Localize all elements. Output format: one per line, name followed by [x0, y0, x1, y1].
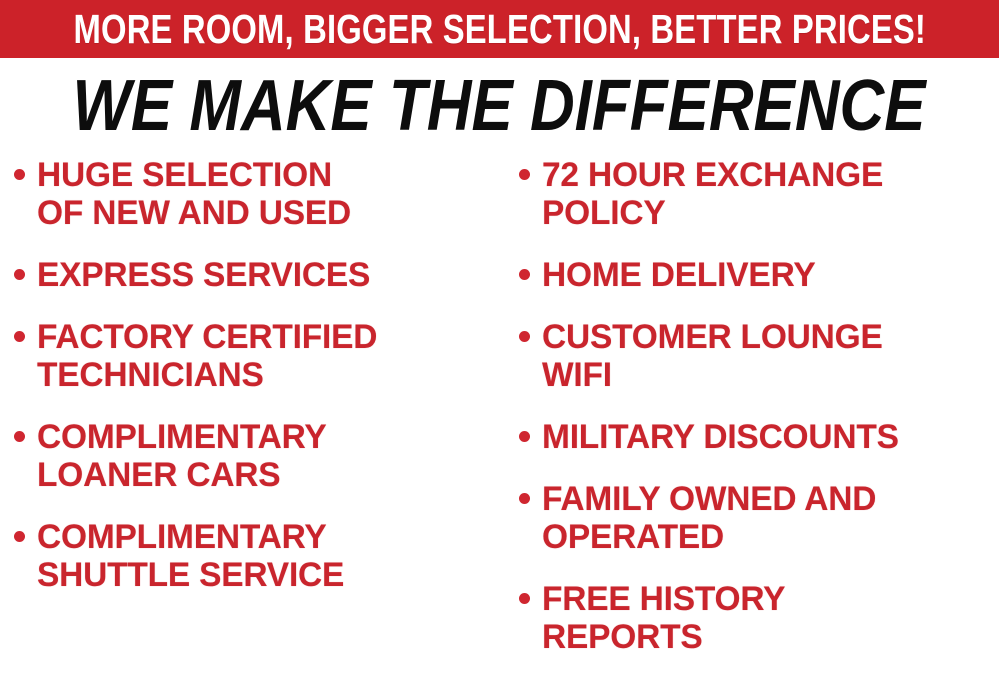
benefits-column-right: 72 HOUR EXCHANGE POLICY HOME DELIVERY CU… [505, 156, 999, 656]
bullet-dot-icon [519, 593, 530, 604]
list-item: COMPLIMENTARY SHUTTLE SERVICE [14, 518, 503, 594]
benefits-column-left: HUGE SELECTION OF NEW AND USED EXPRESS S… [0, 156, 505, 594]
list-item: FAMILY OWNED AND OPERATED [519, 480, 999, 556]
bullet-dot-icon [14, 531, 25, 542]
list-item-label: COMPLIMENTARY SHUTTLE SERVICE [37, 518, 344, 594]
list-item: 72 HOUR EXCHANGE POLICY [519, 156, 999, 232]
list-item: FREE HISTORY REPORTS [519, 580, 999, 656]
list-item-label: FREE HISTORY REPORTS [542, 580, 785, 656]
bullet-dot-icon [519, 493, 530, 504]
list-item-label: 72 HOUR EXCHANGE POLICY [542, 156, 883, 232]
bullet-dot-icon [14, 431, 25, 442]
list-item: HUGE SELECTION OF NEW AND USED [14, 156, 503, 232]
list-item: CUSTOMER LOUNGE WIFI [519, 318, 999, 394]
list-item-label: CUSTOMER LOUNGE WIFI [542, 318, 883, 394]
list-item: EXPRESS SERVICES [14, 256, 503, 294]
list-item-label: COMPLIMENTARY LOANER CARS [37, 418, 327, 494]
dealership-promo-banner: MORE ROOM, BIGGER SELECTION, BETTER PRIC… [0, 0, 999, 692]
bullet-dot-icon [14, 331, 25, 342]
benefits-columns: HUGE SELECTION OF NEW AND USED EXPRESS S… [0, 156, 999, 692]
bullet-dot-icon [519, 331, 530, 342]
list-item-label: MILITARY DISCOUNTS [542, 418, 899, 456]
headline-container: WE MAKE THE DIFFERENCE [0, 58, 999, 154]
bullet-dot-icon [519, 269, 530, 280]
bullet-dot-icon [14, 169, 25, 180]
list-item-label: EXPRESS SERVICES [37, 256, 370, 294]
page-title: WE MAKE THE DIFFERENCE [73, 70, 926, 142]
list-item-label: FAMILY OWNED AND OPERATED [542, 480, 876, 556]
list-item-label: HUGE SELECTION OF NEW AND USED [37, 156, 351, 232]
list-item: MILITARY DISCOUNTS [519, 418, 999, 456]
bullet-dot-icon [519, 169, 530, 180]
bullet-dot-icon [14, 269, 25, 280]
bullet-dot-icon [519, 431, 530, 442]
list-item: FACTORY CERTIFIED TECHNICIANS [14, 318, 503, 394]
list-item: HOME DELIVERY [519, 256, 999, 294]
list-item-label: FACTORY CERTIFIED TECHNICIANS [37, 318, 377, 394]
promo-bar: MORE ROOM, BIGGER SELECTION, BETTER PRIC… [0, 0, 999, 58]
list-item: COMPLIMENTARY LOANER CARS [14, 418, 503, 494]
list-item-label: HOME DELIVERY [542, 256, 815, 294]
promo-bar-text: MORE ROOM, BIGGER SELECTION, BETTER PRIC… [73, 9, 925, 50]
